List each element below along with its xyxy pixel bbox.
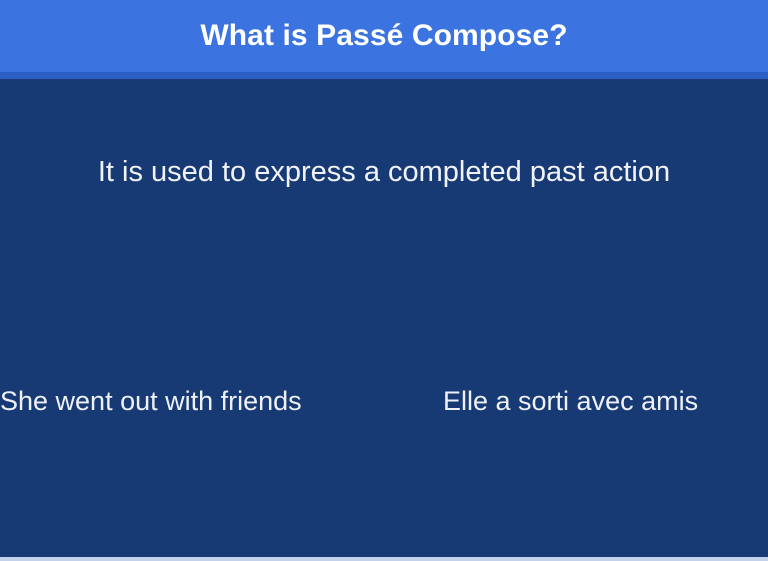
bottom-edge-strip [0,557,768,561]
example-english: She went out with friends [0,384,302,418]
header-divider [0,72,768,79]
slide-header: What is Passé Compose? [0,0,768,72]
page-title: What is Passé Compose? [200,21,567,51]
slide-body: It is used to express a completed past a… [0,79,768,557]
definition-text: It is used to express a completed past a… [84,153,684,191]
lesson-slide: What is Passé Compose? It is used to exp… [0,0,768,561]
example-pair: She went out with friends Elle a sorti a… [0,384,768,424]
example-french: Elle a sorti avec amis [443,384,698,418]
